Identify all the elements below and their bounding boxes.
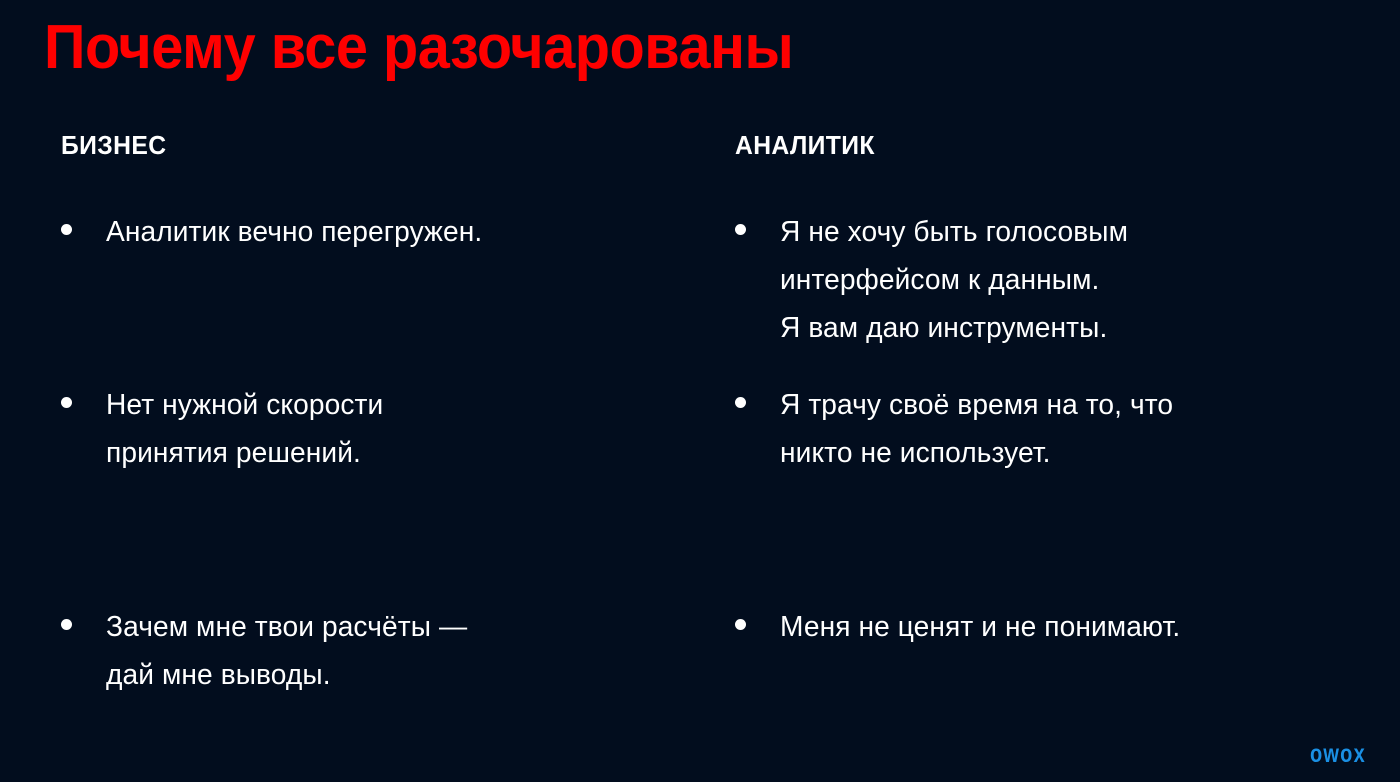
bullet-line: принятия решений. xyxy=(106,429,682,477)
owox-logo: owox xyxy=(1310,740,1366,768)
slide: Почему все разочарованы БИЗНЕС Аналитик … xyxy=(0,0,1400,782)
bullet-list-business: Аналитик вечно перегружен. Нет нужной ск… xyxy=(61,208,700,699)
bullet-dot-icon xyxy=(61,397,72,408)
list-item: Меня не ценят и не понимают. xyxy=(735,603,1400,651)
bullet-dot-icon xyxy=(735,224,746,235)
bullet-line: дай мне выводы. xyxy=(106,651,682,699)
bullet-text: Аналитик вечно перегружен. xyxy=(106,208,682,256)
list-item: Аналитик вечно перегружен. xyxy=(61,208,700,256)
bullet-dot-icon xyxy=(735,397,746,408)
bullet-text: Я трачу своё время на то, что никто не и… xyxy=(780,381,1381,477)
bullet-dot-icon xyxy=(735,619,746,630)
column-header-business: БИЗНЕС xyxy=(61,130,668,160)
bullet-line: Я вам даю инструменты. xyxy=(780,304,1381,352)
bullet-line: Зачем мне твои расчёты — xyxy=(106,603,682,651)
columns-container: БИЗНЕС Аналитик вечно перегружен. Нет ну… xyxy=(0,130,1400,699)
bullet-line: Меня не ценят и не понимают. xyxy=(780,603,1381,651)
bullet-dot-icon xyxy=(61,619,72,630)
bullet-dot-icon xyxy=(61,224,72,235)
bullet-line: интерфейсом к данным. xyxy=(780,256,1381,304)
bullet-line: Я не хочу быть голосовым xyxy=(780,208,1381,256)
bullet-text: Зачем мне твои расчёты — дай мне выводы. xyxy=(106,603,682,699)
list-item: Я не хочу быть голосовым интерфейсом к д… xyxy=(735,208,1400,352)
bullet-list-analyst: Я не хочу быть голосовым интерфейсом к д… xyxy=(735,208,1400,651)
list-item: Зачем мне твои расчёты — дай мне выводы. xyxy=(61,603,700,699)
bullet-line: Я трачу своё время на то, что xyxy=(780,381,1381,429)
column-header-analyst: АНАЛИТИК xyxy=(735,130,1367,160)
bullet-text: Нет нужной скорости принятия решений. xyxy=(106,381,682,477)
column-business: БИЗНЕС Аналитик вечно перегружен. Нет ну… xyxy=(0,130,700,699)
list-item: Нет нужной скорости принятия решений. xyxy=(61,381,700,477)
bullet-line: Нет нужной скорости xyxy=(106,381,682,429)
page-title: Почему все разочарованы xyxy=(44,11,793,85)
bullet-text: Я не хочу быть голосовым интерфейсом к д… xyxy=(780,208,1381,352)
bullet-line: никто не использует. xyxy=(780,429,1381,477)
bullet-text: Меня не ценят и не понимают. xyxy=(780,603,1381,651)
list-item: Я трачу своё время на то, что никто не и… xyxy=(735,381,1400,477)
column-analyst: АНАЛИТИК Я не хочу быть голосовым интерф… xyxy=(700,130,1400,699)
bullet-line: Аналитик вечно перегружен. xyxy=(106,208,682,256)
